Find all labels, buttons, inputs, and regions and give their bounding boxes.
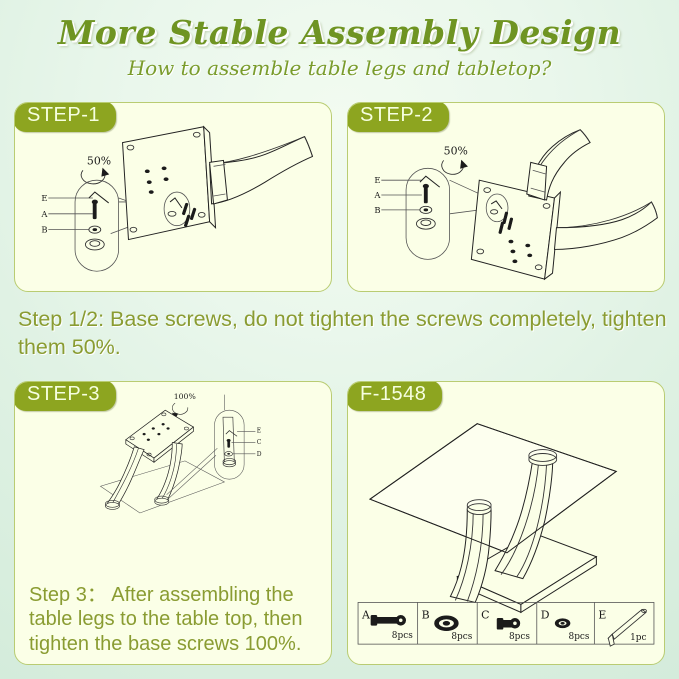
small-washer-icon bbox=[555, 619, 570, 628]
washer-icon bbox=[435, 616, 459, 631]
step-3-illustration: 100% bbox=[15, 382, 331, 582]
part-qty-A: 8pcs bbox=[392, 631, 413, 641]
step2-label-A: A bbox=[373, 190, 381, 200]
step1-label-E: E bbox=[41, 193, 47, 203]
step2-label-E: E bbox=[374, 175, 380, 185]
step3-label-C: C bbox=[257, 439, 262, 446]
parts-table: A 8pcs B 8pcs C bbox=[358, 602, 654, 646]
part-letter-A: A bbox=[361, 608, 370, 621]
page-title: More Stable Assembly Design bbox=[0, 16, 679, 51]
part-letter-E: E bbox=[598, 608, 606, 621]
step1-label-A: A bbox=[40, 209, 48, 219]
panel-step-3: STEP-3 100% bbox=[14, 381, 332, 665]
part-qty-D: 8pcs bbox=[569, 632, 590, 642]
step-3-caption: Step 3： After assembling the table legs … bbox=[29, 583, 329, 656]
step3-percent-label: 100% bbox=[174, 392, 196, 401]
badge-step-3: STEP-3 bbox=[14, 381, 116, 411]
part-qty-C: 8pcs bbox=[509, 632, 530, 642]
bolt-icon bbox=[371, 615, 406, 625]
step1-label-B: B bbox=[41, 225, 47, 235]
part-qty-E: 1pc bbox=[630, 633, 646, 643]
badge-step-1: STEP-1 bbox=[14, 102, 116, 132]
header: More Stable Assembly Design How to assem… bbox=[0, 0, 679, 79]
part-letter-C: C bbox=[481, 608, 489, 621]
mid-caption: Step 1/2: Base screws, do not tighten th… bbox=[18, 305, 668, 362]
page-subtitle: How to assemble table legs and tabletop? bbox=[0, 57, 679, 79]
part-letter-D: D bbox=[541, 608, 550, 621]
panel-step-2: STEP-2 50% E A B bbox=[347, 102, 665, 292]
step3-label-E: E bbox=[257, 428, 261, 435]
short-bolt-icon bbox=[497, 618, 520, 629]
step3-label-D: D bbox=[257, 451, 262, 458]
step2-label-B: B bbox=[374, 205, 380, 215]
instruction-sheet: More Stable Assembly Design How to assem… bbox=[0, 0, 679, 679]
badge-model: F-1548 bbox=[347, 381, 442, 411]
step1-percent-label: 50% bbox=[87, 154, 111, 167]
part-qty-B: 8pcs bbox=[451, 632, 472, 642]
step2-percent-label: 50% bbox=[444, 144, 468, 157]
part-letter-B: B bbox=[422, 608, 430, 621]
model-illustration: A 8pcs B 8pcs C bbox=[348, 382, 664, 664]
panel-model: F-1548 bbox=[347, 381, 665, 665]
panel-step-1: STEP-1 50% E A B bbox=[14, 102, 332, 292]
badge-step-2: STEP-2 bbox=[347, 102, 449, 132]
